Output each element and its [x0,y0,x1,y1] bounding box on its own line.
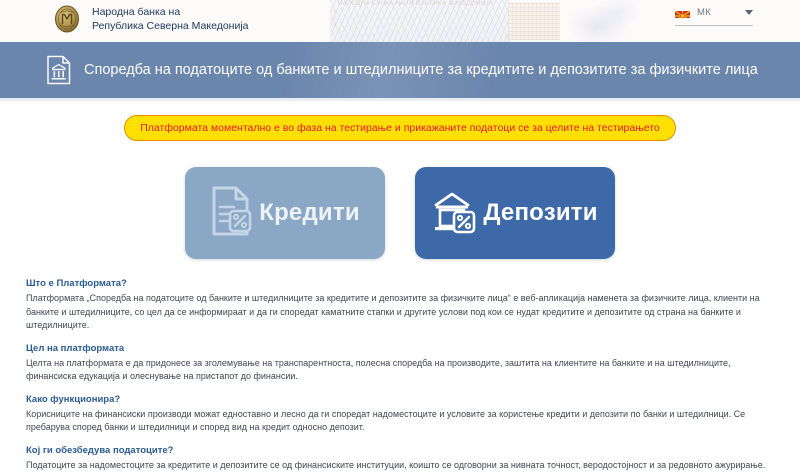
category-cards: Кредити Депозити [0,167,800,259]
document-bank-icon [46,55,72,85]
watermark-serial: АА9 [333,9,337,30]
section-heading: Како функционира? [26,393,774,406]
bank-percent-icon [432,186,476,241]
info-section: Што е Платформата? Платформата „Споредба… [26,277,774,333]
page-title-banner: Споредба на податоците од банките и штед… [0,42,800,98]
brand-name: Народна банка на Република Северна Макед… [92,5,249,34]
language-selector[interactable]: МК [675,7,753,26]
nbrm-seal-icon [52,4,82,34]
brand-line-2: Република Северна Македонија [92,19,249,34]
notice-container: Платформата моментално е во фаза на тест… [0,101,800,141]
macedonia-flag-icon [675,8,690,18]
section-body: Платформата „Споредба на податоците од б… [26,292,774,333]
section-body: Податоците за надоместоците за кредитите… [26,459,774,472]
language-code: МК [697,7,711,18]
watermark-text: НАРОДНА БАНКА НА РЕПУБЛИКА МАКЕДОНИЈА [338,1,493,7]
top-header: НАРОДНА БАНКА НА РЕПУБЛИКА МАКЕДОНИЈА АА… [0,0,800,42]
section-body: Целта на платформата е да придонесе за з… [26,357,774,384]
deposits-card[interactable]: Депозити [415,167,615,259]
section-heading: Кој ги обезбедува податоците? [26,444,774,457]
credits-card-label: Кредити [259,199,360,227]
chevron-down-icon[interactable] [745,10,753,15]
info-section: Цел на платформата Целта на платформата … [26,342,774,384]
watermark-band: НАРОДНА БАНКА НА РЕПУБЛИКА МАКЕДОНИЈА АА… [330,0,510,42]
credits-card[interactable]: Кредити [185,167,385,259]
section-heading: Што е Платформата? [26,277,774,290]
info-section: Како функционира? Корисниците на финанси… [26,393,774,435]
info-section: Кој ги обезбедува податоците? Податоците… [26,444,774,472]
deposits-card-label: Депозити [483,199,597,227]
banknote-watermark: НАРОДНА БАНКА НА РЕПУБЛИКА МАКЕДОНИЈА АА… [330,0,660,42]
section-body: Корисниците на финансиски производи можа… [26,408,774,435]
document-percent-icon [210,185,252,242]
brand: Народна банка на Република Северна Макед… [52,4,249,34]
brand-line-1: Народна банка на [92,5,249,20]
watermark-guilloche [508,2,560,40]
section-heading: Цел на платформата [26,342,774,355]
page-title: Споредба на податоците од банките и штед… [84,60,758,80]
info-sections: Што е Платформата? Платформата „Споредба… [0,259,800,472]
test-mode-notice: Платформата моментално е во фаза на тест… [124,115,676,141]
watermark-swirl [562,0,658,42]
